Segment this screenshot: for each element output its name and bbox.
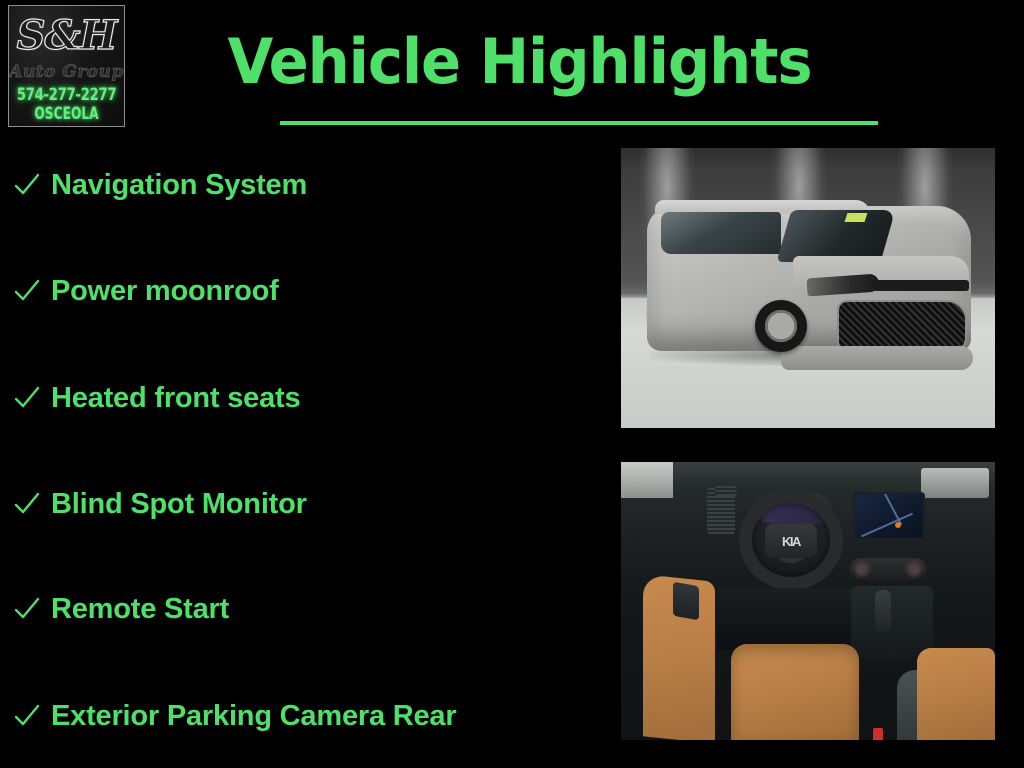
center-console [851, 586, 933, 658]
steering-wheel-hub: KIA [765, 524, 817, 558]
list-item: Remote Start [12, 588, 229, 630]
vehicle-interior-photo: KIA [621, 462, 995, 740]
checkmark-icon [12, 170, 42, 200]
front-badge-strip: KIA [873, 280, 969, 291]
kia-badge-icon: KIA [782, 534, 800, 549]
title-underline [280, 121, 878, 125]
windshield-sticker [845, 213, 868, 222]
checkmark-icon [12, 701, 42, 731]
vehicle-exterior-photo: KIA [621, 148, 995, 428]
climate-control-panel [849, 558, 927, 580]
side-window [661, 212, 781, 254]
list-item-label: Navigation System [51, 168, 307, 202]
climate-knob [855, 562, 869, 576]
list-item-label: Power moonroof [51, 274, 279, 308]
dealer-logo-city: OSCEOLA [21, 105, 113, 124]
dealer-logo-phone: 574-277-2277 [16, 86, 117, 105]
list-item: Power moonroof [12, 270, 279, 312]
page-title: Vehicle Highlights [228, 28, 812, 96]
list-item: Blind Spot Monitor [12, 483, 307, 525]
list-item-label: Heated front seats [51, 381, 300, 415]
dealer-logo: S&H Auto Group 574-277-2277 OSCEOLA [8, 5, 125, 127]
dealer-logo-subtitle: Auto Group [9, 62, 124, 82]
checkmark-icon [12, 276, 42, 306]
rearview-mirror [921, 468, 989, 498]
windshield [777, 210, 896, 262]
passenger-seat [917, 648, 995, 740]
dealer-logo-name: S&H [9, 14, 124, 58]
gear-shifter [875, 590, 891, 632]
nav-marker-icon [895, 522, 901, 528]
checkmark-icon [12, 594, 42, 624]
infotainment-screen [853, 492, 925, 540]
front-bumper [781, 346, 973, 370]
list-item-label: Remote Start [51, 592, 229, 626]
list-item: Navigation System [12, 164, 307, 206]
list-item: Exterior Parking Camera Rear [12, 695, 456, 737]
climate-knob [907, 562, 921, 576]
checkmark-icon [12, 383, 42, 413]
air-vent [715, 486, 737, 496]
checkmark-icon [12, 489, 42, 519]
list-item-label: Exterior Parking Camera Rear [51, 699, 456, 733]
seatbelt-buckle [873, 728, 883, 740]
driver-window [621, 462, 673, 498]
footwell [717, 588, 853, 650]
slide-title-container: Vehicle Highlights [150, 28, 890, 96]
list-item-label: Blind Spot Monitor [51, 487, 307, 521]
front-wheel [755, 300, 807, 352]
list-item: Heated front seats [12, 377, 300, 419]
nav-route-line [861, 513, 913, 538]
door-window-switches [673, 582, 699, 621]
driver-seat [731, 644, 859, 740]
front-grille [837, 300, 967, 352]
